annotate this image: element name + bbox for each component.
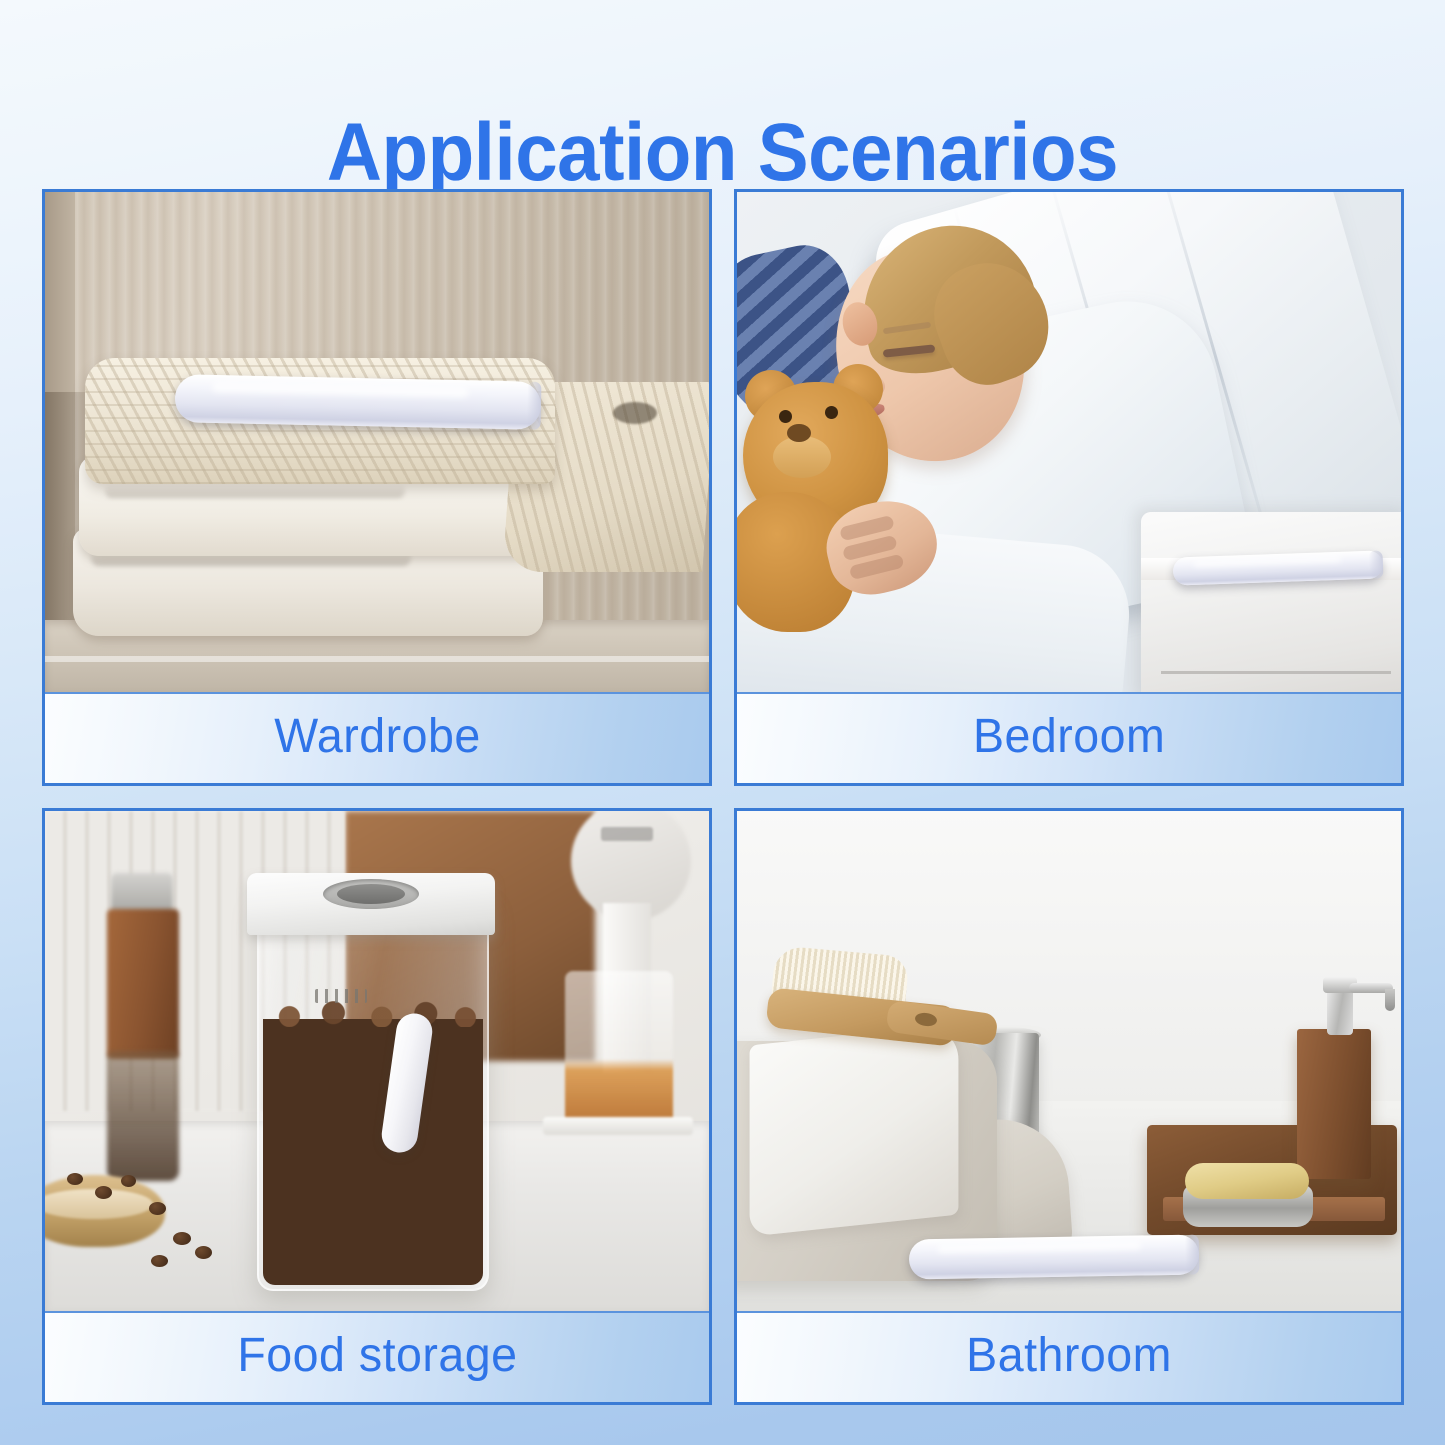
teddy-nose: [787, 424, 811, 442]
caption-bathroom: Bathroom: [737, 1311, 1401, 1402]
deodorizer-stick: [909, 1234, 1200, 1279]
caption-wardrobe: Wardrobe: [45, 692, 709, 783]
coffee-bean: [67, 1173, 83, 1185]
teddy-eye-left: [779, 410, 792, 423]
scenario-card-bathroom[interactable]: Bathroom: [734, 808, 1404, 1405]
application-scenarios-page: Application Scenarios Wardrobe: [0, 0, 1445, 1445]
coffee-bean: [149, 1202, 166, 1215]
coffee-machine-label: [601, 827, 653, 841]
coffee-beans-fill: [263, 1019, 483, 1285]
coffee-bean: [121, 1175, 136, 1187]
scenario-card-food-storage[interactable]: Food storage: [42, 808, 712, 1405]
teddy-snout: [773, 436, 831, 478]
nightstand: [1141, 512, 1401, 692]
caption-label: Bedroom: [973, 711, 1165, 767]
caption-label: Wardrobe: [274, 711, 481, 767]
bathroom-photo: [737, 811, 1401, 1311]
wardrobe-shelf-edge: [45, 656, 709, 662]
coffee-bean: [195, 1246, 212, 1259]
coffee-glass: [565, 971, 673, 1131]
caption-bedroom: Bedroom: [737, 692, 1401, 783]
nightstand-drawer-line: [1161, 671, 1391, 674]
coffee-beans-surface: [263, 1001, 483, 1027]
teddy-eye-right: [825, 406, 838, 419]
coffee-glass-tray: [543, 1117, 693, 1135]
soap-bar: [1185, 1163, 1309, 1199]
grinder-body: [107, 909, 179, 1059]
coffee-bean: [151, 1255, 168, 1267]
knit-blanket-hole: [613, 402, 657, 424]
coffee-bean: [173, 1232, 191, 1245]
caption-food-storage: Food storage: [45, 1311, 709, 1402]
white-towel: [750, 1024, 959, 1237]
caption-label: Food storage: [237, 1330, 517, 1386]
dispenser-spout-tip: [1385, 989, 1395, 1011]
caption-label: Bathroom: [966, 1330, 1172, 1386]
storage-canister: [257, 899, 489, 1291]
soap-dispenser: [1297, 1029, 1371, 1179]
coffee-bean: [95, 1186, 112, 1199]
grinder-glass: [107, 1051, 179, 1181]
canister-lid-knob: [337, 884, 405, 904]
food-storage-photo: [45, 811, 709, 1311]
dispenser-pump: [1327, 989, 1353, 1035]
scenario-card-wardrobe[interactable]: Wardrobe: [42, 189, 712, 786]
scenario-grid: Wardrobe: [42, 189, 1404, 1405]
canister-vent: [315, 989, 367, 1003]
wardrobe-photo: [45, 192, 709, 692]
bedroom-photo: [737, 192, 1401, 692]
deodorizer-stick: [175, 374, 542, 430]
scenario-card-bedroom[interactable]: Bedroom: [734, 189, 1404, 786]
